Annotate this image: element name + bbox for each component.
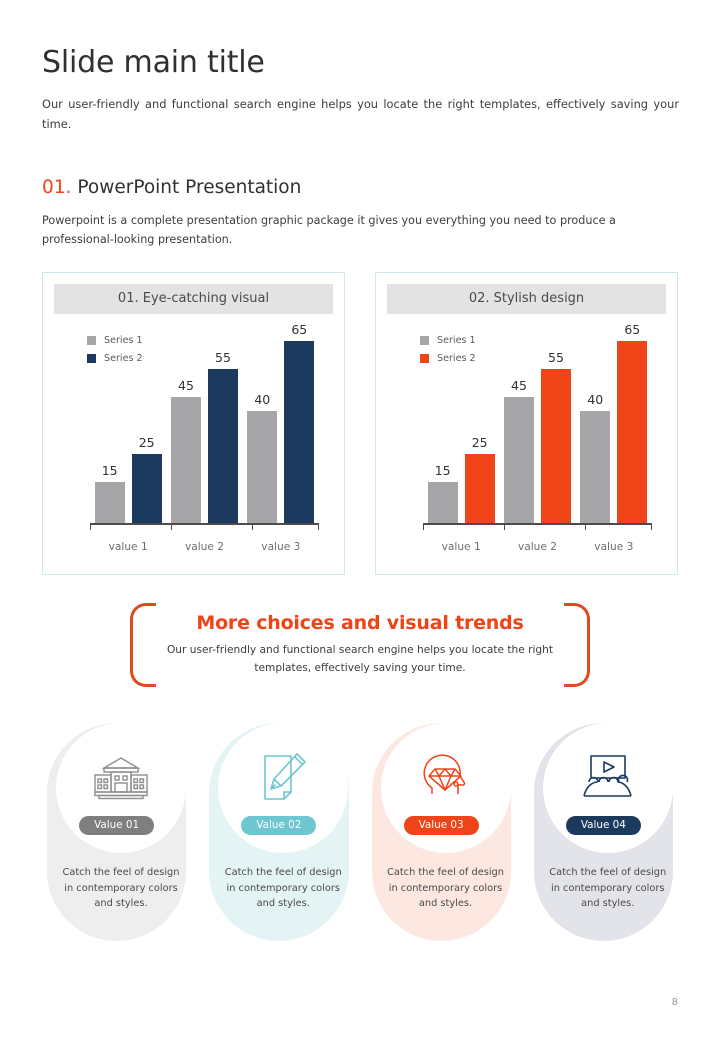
card-badge-3[interactable]: Value 03 [404, 816, 479, 835]
axis-tick [504, 524, 505, 530]
bar-value-label: 15 [80, 463, 140, 478]
bar-value-label: 65 [269, 322, 329, 337]
category-label: value 1 [90, 541, 166, 553]
bar-series-1 [504, 397, 534, 525]
bar-group: 40 65 [576, 321, 652, 525]
bar-value-label: 45 [489, 378, 549, 393]
card-description-1: Catch the feel of design in contemporary… [61, 865, 181, 913]
bar-series-1 [428, 482, 458, 525]
chart-axis-1 [90, 523, 319, 525]
bar-series-2 [284, 341, 314, 525]
card-description-3: Catch the feel of design in contemporary… [386, 865, 506, 913]
card-description-4: Catch the feel of design in contemporary… [548, 865, 668, 913]
chart-card-1[interactable]: 01. Eye-catching visual Series 1 Series … [42, 272, 345, 575]
bar-slot: 55 [208, 321, 238, 525]
chart-axis-2 [423, 523, 652, 525]
page-number: 8 [672, 997, 678, 1008]
card-badge-1[interactable]: Value 01 [79, 816, 154, 835]
bar-group: 45 55 [499, 321, 575, 525]
bar-value-label: 40 [565, 392, 625, 407]
axis-tick [585, 524, 586, 530]
bar-series-1 [247, 411, 277, 524]
category-label: value 2 [166, 541, 242, 553]
section-title: PowerPoint Presentation [77, 177, 301, 198]
quote-content: More choices and visual trends Our user-… [145, 612, 575, 677]
value-card-2[interactable]: Value 02 Catch the feel of design in con… [209, 723, 348, 941]
head-diamond-icon [420, 752, 472, 808]
bar-slot: 15 [95, 321, 125, 525]
document-pencil-icon [257, 752, 309, 808]
category-label: value 2 [499, 541, 575, 553]
bar-series-2 [465, 454, 495, 525]
chart-plot-1: 15 25 45 55 40 65 [54, 321, 333, 563]
value-card-1[interactable]: Value 01 Catch the feel of design in con… [47, 723, 186, 941]
bar-slot: 25 [465, 321, 495, 525]
chart-bars-1: 15 25 45 55 40 65 [90, 321, 319, 525]
bar-group: 45 55 [166, 321, 242, 525]
quote-title: More choices and visual trends [145, 612, 575, 634]
bar-group: 15 25 [90, 321, 166, 525]
axis-tick [90, 524, 91, 530]
bar-value-label: 40 [232, 392, 292, 407]
category-label: value 3 [576, 541, 652, 553]
chart-category-labels-1: value 1 value 2 value 3 [90, 541, 319, 553]
axis-tick [651, 524, 652, 530]
bar-series-1 [171, 397, 201, 525]
axis-tick [423, 524, 424, 530]
bracket-right-icon [564, 603, 590, 687]
value-card-4[interactable]: Value 04 Catch the feel of design in con… [534, 723, 673, 941]
bar-group: 40 65 [243, 321, 319, 525]
card-badge-2[interactable]: Value 02 [241, 816, 316, 835]
chart-category-labels-2: value 1 value 2 value 3 [423, 541, 652, 553]
category-label: value 1 [423, 541, 499, 553]
bar-value-label: 65 [602, 322, 662, 337]
bar-slot: 25 [132, 321, 162, 525]
presentation-audience-icon [580, 754, 636, 806]
bar-slot: 55 [541, 321, 571, 525]
quote-band: More choices and visual trends Our user-… [42, 599, 678, 691]
axis-tick [318, 524, 319, 530]
axis-tick [171, 524, 172, 530]
chart-plot-2: 15 25 45 55 40 65 [387, 321, 666, 563]
page-title: Slide main title [42, 46, 678, 80]
slide-header: Slide main title Our user-friendly and f… [42, 0, 678, 134]
charts-row: 01. Eye-catching visual Series 1 Series … [42, 272, 678, 575]
bar-slot: 65 [617, 321, 647, 525]
card-description-2: Catch the feel of design in contemporary… [223, 865, 343, 913]
quote-text: Our user-friendly and functional search … [145, 642, 575, 677]
category-label: value 3 [243, 541, 319, 553]
bar-slot: 40 [580, 321, 610, 525]
bar-slot: 65 [284, 321, 314, 525]
bank-building-icon [93, 755, 149, 805]
chart-title-1: 01. Eye-catching visual [54, 284, 333, 314]
bar-series-2 [132, 454, 162, 525]
section-body-text: Powerpoint is a complete presentation gr… [42, 211, 679, 250]
bar-value-label: 45 [156, 378, 216, 393]
chart-card-2[interactable]: 02. Stylish design Series 1 Series 2 15 … [375, 272, 678, 575]
bar-slot: 15 [428, 321, 458, 525]
slide-root: Slide main title Our user-friendly and f… [0, 0, 720, 1040]
bar-value-label: 15 [413, 463, 473, 478]
bar-series-1 [580, 411, 610, 524]
section-heading: 01. PowerPoint Presentation [42, 177, 678, 198]
bar-series-2 [617, 341, 647, 525]
section-number: 01. [42, 177, 71, 198]
bar-slot: 40 [247, 321, 277, 525]
card-badge-4[interactable]: Value 04 [566, 816, 641, 835]
page-subtitle: Our user-friendly and functional search … [42, 94, 679, 135]
bracket-left-icon [130, 603, 156, 687]
bar-group: 15 25 [423, 321, 499, 525]
value-cards-row: Value 01 Catch the feel of design in con… [42, 723, 678, 941]
value-card-3[interactable]: Value 03 Catch the feel of design in con… [372, 723, 511, 941]
chart-title-2: 02. Stylish design [387, 284, 666, 314]
axis-tick [252, 524, 253, 530]
bar-series-1 [95, 482, 125, 525]
chart-bars-2: 15 25 45 55 40 65 [423, 321, 652, 525]
